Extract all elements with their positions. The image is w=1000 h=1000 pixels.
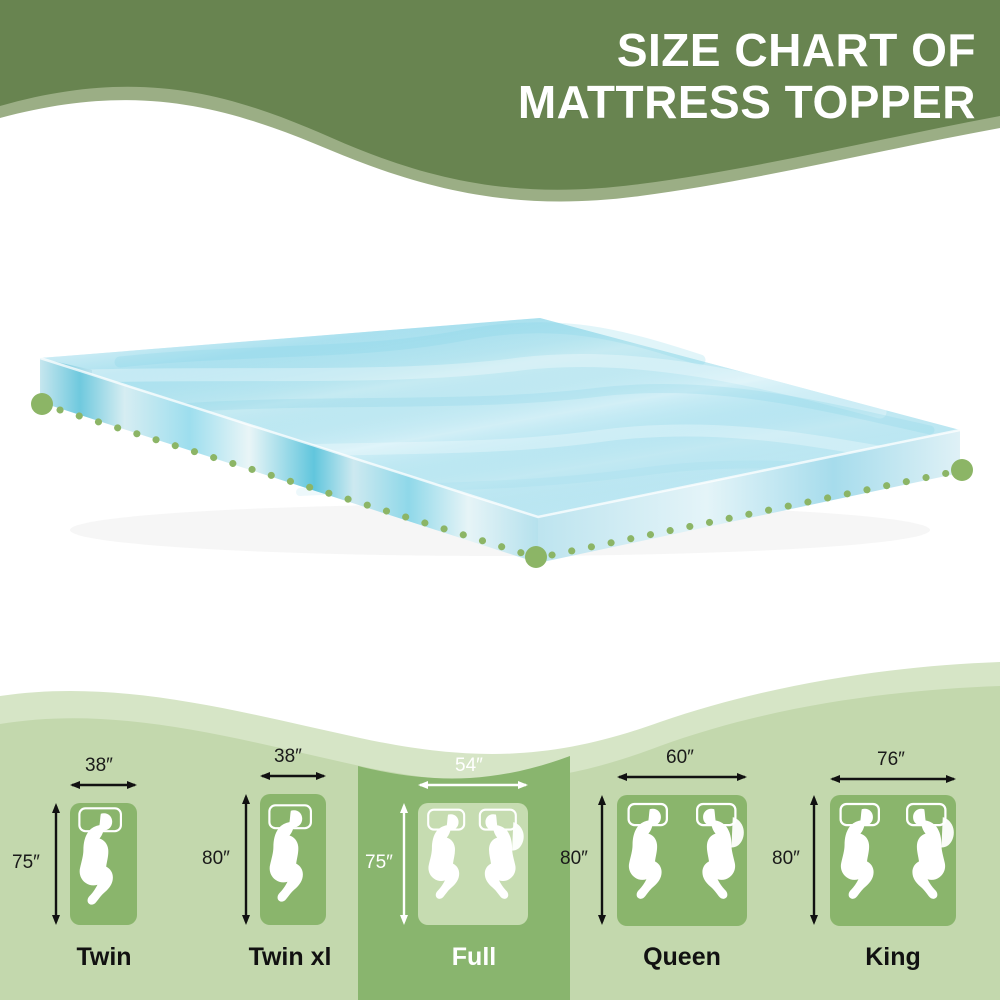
sleeper-silhouette-right xyxy=(907,804,954,899)
bed-width-label-twin-xl: 38″ xyxy=(274,746,302,768)
bed-size-full[interactable]: 54″ 75″ Full xyxy=(370,660,570,1000)
dimension-arrow-width xyxy=(260,772,326,780)
bed-height-label-full: 75″ xyxy=(365,852,393,874)
bed-height-label-twin-xl: 80″ xyxy=(202,848,230,870)
bed-name-king: King xyxy=(823,943,963,972)
bed-size-queen[interactable]: 60″ 80″ Queen xyxy=(570,660,780,1000)
bed-size-twin-xl[interactable]: 38″ 80″ Twin xl xyxy=(190,660,380,1000)
bed-height-label-king: 80″ xyxy=(772,848,800,870)
bed-size-list: 38″ 75″ Twin xyxy=(0,660,1000,1000)
dimension-arrow-height xyxy=(242,794,250,925)
dimension-arrow-height xyxy=(52,803,60,925)
dimension-arrow-height xyxy=(400,803,408,925)
dimension-endpoint-dot-left xyxy=(31,393,53,415)
bed-name-twin-xl: Twin xl xyxy=(216,943,364,972)
page-title-line-2: MATTRESS TOPPER xyxy=(518,76,976,128)
dimension-endpoint-dot-center xyxy=(525,546,547,568)
sleeper-silhouette xyxy=(269,805,311,901)
dimension-arrow-height xyxy=(598,795,606,925)
page-title-line-1: SIZE CHART OF xyxy=(518,24,976,76)
dimension-endpoint-dot-right xyxy=(951,459,973,481)
bed-width-label-queen: 60″ xyxy=(666,747,694,769)
bed-width-label-full: 54″ xyxy=(455,755,483,777)
bed-name-twin: Twin xyxy=(40,943,168,972)
bed-width-label-twin: 38″ xyxy=(85,755,113,777)
bed-size-twin[interactable]: 38″ 75″ Twin xyxy=(0,660,200,1000)
dimension-arrow-width xyxy=(830,775,956,783)
dimension-arrow-width xyxy=(418,781,528,789)
bed-height-label-twin: 75″ xyxy=(12,852,40,874)
dimension-arrow-height xyxy=(810,795,818,925)
hero-product-area: 75″ 54″ xyxy=(0,230,1000,700)
size-comparison-panel: 38″ 75″ Twin xyxy=(0,660,1000,1000)
bed-height-label-queen: 80″ xyxy=(560,848,588,870)
sleeper-silhouette xyxy=(79,808,121,904)
bed-size-king[interactable]: 76″ 80″ King xyxy=(760,660,1000,1000)
sleeper-silhouette-left xyxy=(428,810,464,899)
dimension-arrow-width xyxy=(617,773,747,781)
bed-name-queen: Queen xyxy=(612,943,752,972)
bed-name-full: Full xyxy=(410,943,538,972)
bed-width-label-king: 76″ xyxy=(877,749,905,771)
sleeper-silhouette-left xyxy=(629,804,667,899)
sleeper-silhouette-right xyxy=(697,804,744,899)
sleeper-silhouette-right xyxy=(480,810,524,899)
mattress-topper-illustration xyxy=(0,230,1000,700)
header-banner: SIZE CHART OF MATTRESS TOPPER xyxy=(0,0,1000,240)
dimension-arrow-width xyxy=(70,781,137,789)
infographic-root: SIZE CHART OF MATTRESS TOPPER xyxy=(0,0,1000,1000)
page-title: SIZE CHART OF MATTRESS TOPPER xyxy=(518,24,976,129)
sleeper-silhouette-left xyxy=(841,804,879,899)
